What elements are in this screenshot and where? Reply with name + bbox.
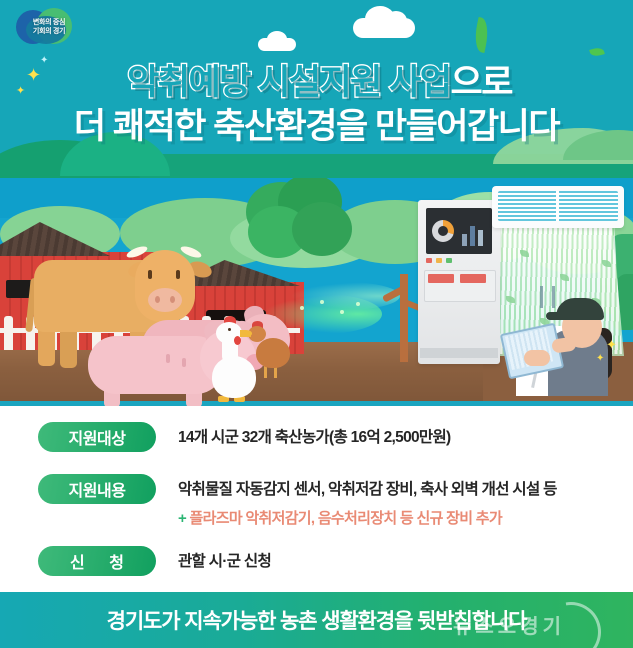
farm-illustration: ✦ ✦ xyxy=(0,178,633,409)
airflow-marker xyxy=(552,286,555,308)
control-panel-base xyxy=(420,348,498,358)
goose-eye xyxy=(228,328,231,331)
poster-header: ✦ ✦ ✦ 변화의 중심 기회의 경기 악취예방 시설지원 사업으로 더 쾌적한… xyxy=(0,0,633,178)
info-label-pill: 신 청 xyxy=(38,546,156,576)
footer-tagline: 경기도가 지속가능한 농촌 생활환경을 뒷받침합니다 xyxy=(0,605,633,635)
fence-picket xyxy=(4,316,13,350)
info-section: 지원대상 14개 시군 32개 축산농가(총 16억 2,500만원) 지원내용… xyxy=(0,406,633,592)
sparkle-dot-icon xyxy=(356,302,360,306)
farmer-hand xyxy=(524,350,550,366)
cow-eye xyxy=(176,270,180,279)
pig-marking xyxy=(166,354,170,363)
info-row-text: 관할 시·군 신청 xyxy=(178,546,271,575)
goose-wattle xyxy=(234,336,241,345)
logo-slogan: 변화의 중심 기회의 경기 xyxy=(17,18,81,36)
sparkle-icon: ✦ xyxy=(596,354,604,364)
title-solid-suffix: 으로 xyxy=(451,63,512,102)
info-row-content: 관할 시·군 신청 xyxy=(156,546,271,575)
leaf-icon xyxy=(589,46,605,57)
cow-snout xyxy=(148,288,182,312)
status-indicator-green xyxy=(446,258,452,263)
info-row-content: 악취물질 자동감지 센서, 악취저감 장비, 축사 외벽 개선 시설 등 + 플… xyxy=(156,474,557,532)
airflow-marker xyxy=(540,286,543,308)
sparkle-dot-icon xyxy=(320,300,324,304)
farmer-cap xyxy=(556,298,604,320)
cloud-icon xyxy=(258,38,296,51)
info-row-text: 악취물질 자동감지 센서, 악취저감 장비, 축사 외벽 개선 시설 등 xyxy=(178,474,557,503)
info-row-text: 14개 시군 32개 축산농가(총 16억 2,500만원) xyxy=(178,422,451,451)
info-row-subtext-label: 플라즈마 악취저감기, 음수처리장치 등 신규 장비 추가 xyxy=(190,510,502,527)
chicken-leg xyxy=(264,366,267,378)
sparkle-dot-icon xyxy=(340,310,344,314)
chicken-body xyxy=(256,338,290,368)
status-indicator-amber xyxy=(436,258,442,263)
goose-beak xyxy=(240,330,252,337)
info-row-content: 14개 시군 32개 축산농가(총 16억 2,500만원) xyxy=(156,422,451,451)
plus-icon: + xyxy=(178,510,186,527)
pie-chart-icon xyxy=(432,220,454,242)
poster-root: ✦ ✦ ✦ 변화의 중심 기회의 경기 악취예방 시설지원 사업으로 더 쾌적한… xyxy=(0,0,633,648)
info-row-support-content: 지원내용 악취물질 자동감지 센서, 악취저감 장비, 축사 외벽 개선 시설 … xyxy=(38,474,557,532)
gyeonggi-province-logo: 변화의 중심 기회의 경기 xyxy=(16,8,82,48)
title-line-1: 악취예방 시설지원 사업으로 xyxy=(6,62,633,104)
sparkle-dot-icon xyxy=(300,306,304,310)
info-label-pill: 지원내용 xyxy=(38,474,156,504)
cow-nostril xyxy=(170,296,175,303)
goose-body xyxy=(212,356,256,398)
title-outlined-text: 악취예방 시설지원 사업 xyxy=(127,63,450,102)
footer-banner: 경기도가 지속가능한 농촌 생활환경을 뒷받침합니다 xyxy=(0,592,633,648)
control-panel-led xyxy=(460,274,486,283)
info-label-pill: 지원대상 xyxy=(38,422,156,452)
sparkle-icon: ✦ xyxy=(606,338,617,351)
cow-eye xyxy=(148,270,152,279)
cloud-icon xyxy=(353,18,415,38)
status-indicator-red xyxy=(426,258,432,263)
air-blower-vent-divider xyxy=(556,191,559,221)
cow-nostril xyxy=(155,296,160,303)
info-row-application: 신 청 관할 시·군 신청 xyxy=(38,546,271,576)
info-row-support-target: 지원대상 14개 시군 32개 축산농가(총 16억 2,500만원) xyxy=(38,422,451,452)
leaf-icon xyxy=(472,17,492,53)
info-row-subtext: + 플라즈마 악취저감기, 음수처리장치 등 신규 장비 추가 xyxy=(178,503,557,532)
bar-chart-icon xyxy=(478,230,483,246)
title-line-2: 더 쾌적한 축산환경을 만들어갑니다 xyxy=(0,106,633,148)
bar-chart-icon xyxy=(462,234,467,246)
control-panel-led xyxy=(428,274,454,283)
tree-shape xyxy=(292,202,352,256)
poster-title: 악취예방 시설지원 사업으로 더 쾌적한 축산환경을 만들어갑니다 xyxy=(0,62,633,148)
pig-marking xyxy=(182,358,186,367)
bar-chart-icon xyxy=(470,226,475,246)
